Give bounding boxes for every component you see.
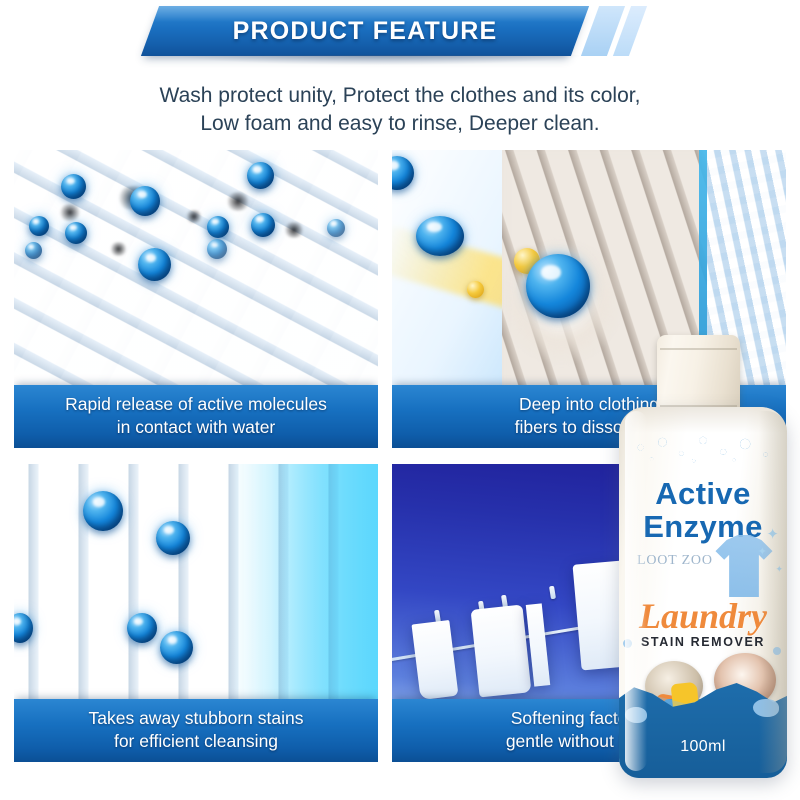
decorative-dot xyxy=(773,647,781,655)
molecule-sphere xyxy=(160,631,193,664)
decorative-blob xyxy=(625,707,647,723)
molecule-sphere-large xyxy=(526,254,590,318)
molecule-sphere xyxy=(247,162,274,189)
feature-panel-3: Takes away stubborn stains for efficient… xyxy=(14,464,378,762)
subtitle-block: Wash protect unity, Protect the clothes … xyxy=(0,82,800,138)
molecule-sphere xyxy=(61,174,86,199)
molecule-sphere xyxy=(251,213,275,237)
molecule-sphere xyxy=(65,222,87,244)
subtitle-line-1: Wash protect unity, Protect the clothes … xyxy=(0,82,800,110)
banner-title: PRODUCT FEATURE xyxy=(150,6,580,56)
panel-1-caption-line-1: Rapid release of active molecules xyxy=(14,393,378,416)
panel-3-caption: Takes away stubborn stains for efficient… xyxy=(14,699,378,762)
stain-spot xyxy=(58,204,82,221)
bubble-pattern xyxy=(625,429,781,473)
molecule-sphere xyxy=(327,219,345,237)
decorative-dot xyxy=(623,639,632,648)
volume-label: 100ml xyxy=(619,738,787,756)
header-banner: PRODUCT FEATURE xyxy=(0,6,800,62)
molecule-sphere xyxy=(138,248,171,281)
sparkle-icon: ✦ xyxy=(775,565,783,574)
hanging-shirt xyxy=(470,605,531,698)
yellow-particle xyxy=(467,281,484,298)
infographic-canvas: PRODUCT FEATURE Wash protect unity, Prot… xyxy=(0,0,800,800)
sparkle-icon: ✦ xyxy=(766,527,779,542)
panel-3-caption-line-1: Takes away stubborn stains xyxy=(14,707,378,730)
molecule-sphere xyxy=(207,216,229,238)
product-category: Laundry xyxy=(619,597,787,635)
feature-panel-1: Rapid release of active molecules in con… xyxy=(14,150,378,448)
molecule-sphere xyxy=(156,521,190,555)
bottle-body: Active Enzyme LOOT ZOO ✦ ✦ ✦ Laundry STA… xyxy=(619,407,787,778)
molecule-sphere xyxy=(416,216,464,256)
product-name-line-1: Active xyxy=(619,477,787,510)
subtitle-line-2: Low foam and easy to rinse, Deeper clean… xyxy=(0,110,800,138)
product-bottle: Active Enzyme LOOT ZOO ✦ ✦ ✦ Laundry STA… xyxy=(619,335,787,778)
panel-1-caption-line-2: in contact with water xyxy=(14,416,378,439)
stain-spot xyxy=(225,192,251,211)
molecule-sphere xyxy=(83,491,123,531)
product-name-line-2: Enzyme xyxy=(619,510,787,543)
brand-name: LOOT ZOO xyxy=(637,553,727,569)
stain-spot xyxy=(185,210,203,223)
panel-1-caption: Rapid release of active molecules in con… xyxy=(14,385,378,448)
product-tagline: STAIN REMOVER xyxy=(619,635,787,649)
molecule-sphere xyxy=(127,613,157,643)
sparkle-icon: ✦ xyxy=(758,547,767,558)
panel-3-caption-line-2: for efficient cleansing xyxy=(14,730,378,753)
bottle-cap xyxy=(657,335,740,417)
molecule-sphere xyxy=(29,216,49,236)
decorative-blob xyxy=(753,699,779,717)
stain-spot xyxy=(283,222,305,238)
banner-drop-shadow xyxy=(180,55,580,65)
